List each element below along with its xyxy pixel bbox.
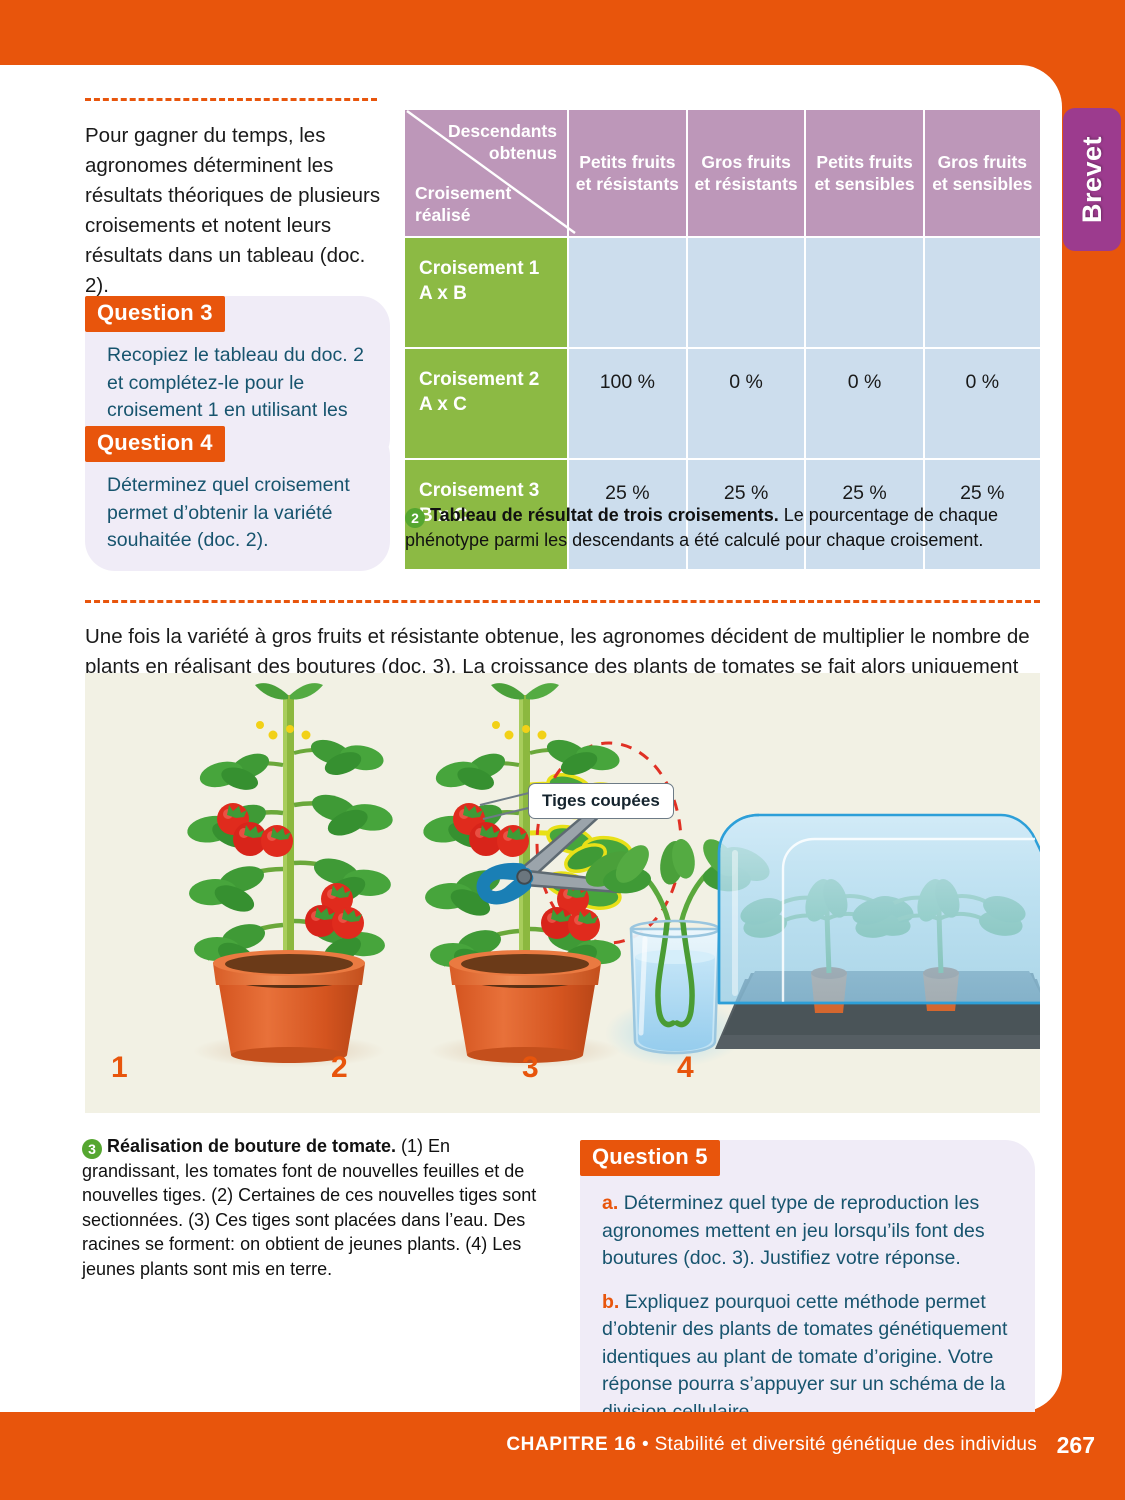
question-5-b-label: b.	[602, 1291, 619, 1313]
question-3-title: Question 3	[85, 296, 225, 332]
caption-doc-3: 3Réalisation de bouture de tomate. (1) E…	[82, 1134, 552, 1281]
footer-chapter: CHAPITRE 16	[506, 1434, 636, 1455]
page-number: 267	[1057, 1432, 1095, 1459]
table-row: Croisement 1A x B	[405, 238, 1040, 349]
brevet-tab-label: Brevet	[1077, 136, 1108, 223]
question-5-a-text: Déterminez quel type de reproduction les…	[602, 1192, 985, 1269]
row-header-croisement-2: Croisement 2A x C	[405, 349, 569, 460]
table-row: Croisement 2A x C 100 % 0 % 0 % 0 %	[405, 349, 1040, 460]
column-header-4: Gros fruitset sensibles	[925, 110, 1040, 238]
footer-separator: •	[636, 1434, 654, 1455]
cell-r2c4: 0 %	[925, 349, 1040, 460]
footer-chapter-line: CHAPITRE 16 • Stabilité et diversité gén…	[506, 1434, 1037, 1456]
question-5-title: Question 5	[580, 1140, 720, 1176]
mini-greenhouse	[715, 815, 1040, 1049]
table-corner-top-label: Descendantsobtenus	[448, 120, 557, 164]
question-5-part-a: a. Déterminez quel type de reproduction …	[602, 1190, 1013, 1273]
cell-r1c2	[688, 238, 807, 349]
caption-doc-2-title: Tableau de résultat de trois croisements…	[430, 505, 779, 525]
question-5-b-text: Expliquez pourquoi cette méthode permet …	[602, 1291, 1007, 1423]
illustration-svg	[85, 673, 1040, 1113]
page-footer	[0, 1412, 1125, 1500]
doc-2-number-badge: 2	[405, 508, 425, 528]
step-number-4: 4	[677, 1051, 694, 1085]
table-corner-bottom-label: Croisementréalisé	[415, 182, 511, 226]
question-5-a-label: a.	[602, 1192, 618, 1214]
cell-r2c2: 0 %	[688, 349, 807, 460]
caption-doc-3-text: (1) En grandissant, les tomates font de …	[82, 1136, 536, 1279]
cell-r2c3: 0 %	[806, 349, 924, 460]
crossing-results-table: Descendantsobtenus Croisementréalisé Pet…	[405, 110, 1040, 569]
bouture-illustration: 1 2 3 4 Tiges coupées	[85, 673, 1040, 1113]
table-corner-cell: Descendantsobtenus Croisementréalisé	[405, 110, 569, 238]
doc-3-number-badge: 3	[82, 1139, 102, 1159]
question-4-box: Question 4 Déterminez quel croisement pe…	[85, 426, 390, 571]
cell-r1c4	[925, 238, 1040, 349]
caption-doc-2: 2Tableau de résultat de trois croisement…	[405, 503, 1040, 552]
flower-pot	[449, 950, 601, 1063]
question-5-body: a. Déterminez quel type de reproduction …	[580, 1140, 1035, 1446]
column-header-2: Gros fruitset résistants	[688, 110, 807, 238]
intro-dashed-rule	[85, 98, 377, 101]
step-number-1: 1	[111, 1051, 128, 1085]
question-5-box: Question 5 a. Déterminez quel type de re…	[580, 1140, 1035, 1446]
brevet-side-tab[interactable]: Brevet	[1063, 108, 1121, 251]
row-header-croisement-1: Croisement 1A x B	[405, 238, 569, 349]
column-header-1: Petits fruitset résistants	[569, 110, 688, 238]
callout-tiges-coupees: Tiges coupées	[528, 783, 674, 819]
cell-r1c1	[569, 238, 688, 349]
intro-paragraph: Pour gagner du temps, les agronomes déte…	[85, 121, 385, 301]
intro-block: Pour gagner du temps, les agronomes déte…	[85, 98, 385, 301]
tomato-plant-1	[186, 683, 395, 1068]
caption-doc-3-title: Réalisation de bouture de tomate.	[107, 1136, 396, 1156]
table-header-row: Descendantsobtenus Croisementréalisé Pet…	[405, 110, 1040, 238]
footer-title: Stabilité et diversité génétique des ind…	[655, 1434, 1037, 1455]
question-5-part-b: b. Expliquez pourquoi cette méthode perm…	[602, 1289, 1013, 1427]
question-4-title: Question 4	[85, 426, 225, 462]
cell-r2c1: 100 %	[569, 349, 688, 460]
step-number-3: 3	[522, 1051, 539, 1085]
glass-dome	[719, 815, 1040, 1003]
step-number-2: 2	[331, 1051, 348, 1085]
cell-r1c3	[806, 238, 924, 349]
flower-pot	[213, 950, 365, 1063]
section-dashed-rule	[85, 600, 1040, 603]
column-header-3: Petits fruitset sensibles	[806, 110, 924, 238]
